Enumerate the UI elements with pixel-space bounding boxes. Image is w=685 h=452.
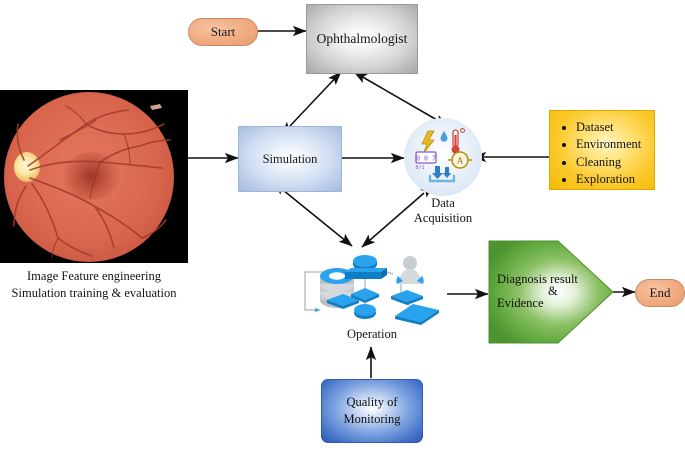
edge-simulation-operation [283, 190, 352, 246]
diagnosis-line-3: Evidence [497, 292, 578, 316]
caption-line-2: Simulation training & evaluation [0, 285, 188, 302]
op-node-bar [345, 268, 387, 279]
op-node-parallelogram [395, 304, 439, 325]
node-start[interactable]: Start [188, 18, 258, 46]
node-ophthalmologist[interactable]: Ophthalmologist [306, 4, 418, 74]
edge-dataacq-ophthalmologist [354, 72, 437, 120]
thermometer-icon [452, 129, 465, 154]
retinal-image-caption: Image Feature engineering Simulation tra… [0, 268, 188, 302]
svg-text:0 0 7: 0 0 7 [416, 154, 436, 162]
lightning-bolt-icon [422, 131, 434, 154]
op-node-diamond-2 [391, 290, 423, 305]
op-node-ellipse-bottom [354, 304, 376, 319]
svg-text:0/1: 0/1 [415, 165, 424, 171]
node-operation[interactable] [297, 248, 447, 328]
diagnosis-line-1: Diagnosis result [497, 268, 578, 292]
diagnosis-ampersand: & [548, 285, 558, 298]
node-simulation-label: Simulation [263, 152, 318, 167]
diagram-canvas: Start Ophthalmologist [0, 0, 685, 452]
node-data-acquisition[interactable]: 0 0 7 0/1 A [404, 118, 482, 196]
node-dataset-box[interactable]: Dataset Environment Cleaning Exploration [549, 110, 655, 190]
svg-text:A: A [457, 156, 464, 166]
node-data-acquisition-label: Data Acquisition [399, 196, 487, 226]
node-diagnosis-result[interactable]: Diagnosis result Evidence & [488, 240, 614, 344]
dataset-item-2: Cleaning [560, 154, 648, 171]
ammeter-icon: A [448, 152, 472, 168]
dataset-list: Dataset Environment Cleaning Exploration [560, 119, 648, 188]
node-operation-label: Operation [322, 327, 422, 342]
digital-meter-icon: 0 0 7 0/1 [415, 152, 436, 171]
operation-illustration [297, 248, 447, 328]
node-simulation[interactable]: Simulation [238, 126, 342, 192]
diagnosis-line-2: & [548, 284, 558, 298]
data-acquisition-label-line2: Acquisition [399, 211, 487, 226]
dataset-item-3: Exploration [560, 171, 648, 188]
diagnosis-label: Diagnosis result Evidence [497, 268, 578, 316]
caption-line-1: Image Feature engineering [0, 268, 188, 285]
op-node-person [396, 256, 423, 284]
data-acquisition-label-line1: Data [399, 196, 487, 211]
node-end[interactable]: End [635, 279, 685, 307]
node-quality-of-monitoring[interactable]: Quality of Monitoring [321, 379, 423, 443]
dataset-item-1: Environment [560, 136, 648, 153]
water-drop-icon [441, 131, 448, 142]
dataset-item-0: Dataset [560, 119, 648, 136]
retinal-vessels [0, 90, 188, 263]
quality-label-line1: Quality of [344, 394, 401, 411]
node-ophthalmologist-label: Ophthalmologist [317, 31, 408, 47]
node-start-label: Start [211, 24, 236, 40]
quality-label-line2: Monitoring [344, 411, 401, 428]
data-collect-icon [430, 166, 454, 181]
node-end-label: End [650, 285, 671, 301]
retinal-fundus-image [0, 90, 188, 263]
data-acquisition-icons: 0 0 7 0/1 A [404, 118, 482, 196]
edge-simulation-ophthalmologist [290, 72, 341, 126]
